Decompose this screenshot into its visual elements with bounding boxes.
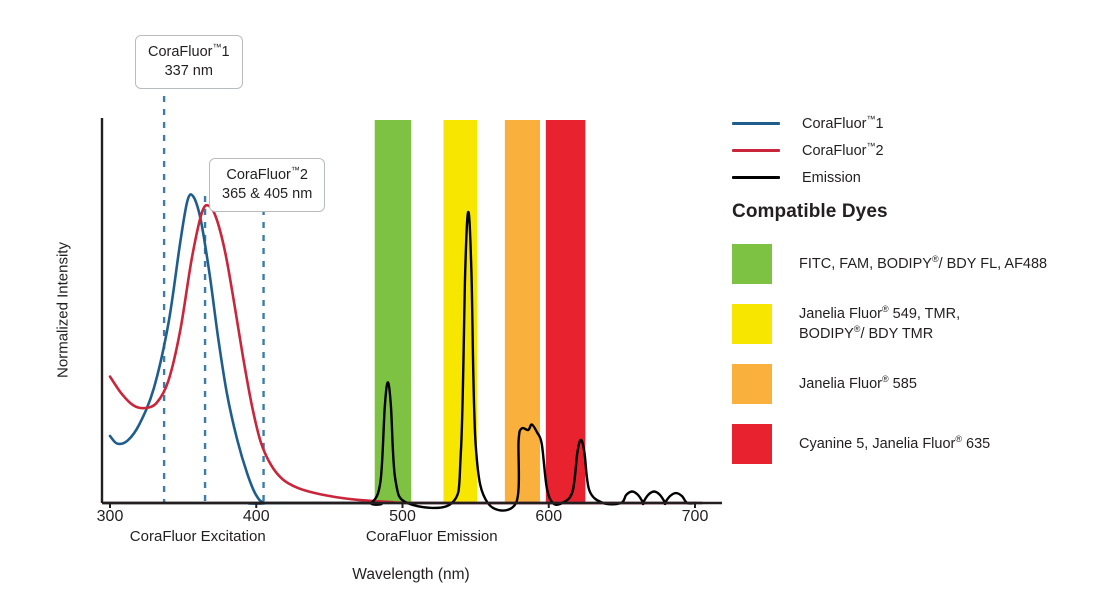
dye-label: FITC, FAM, BODIPY®/ BDY FL, AF488 [799,254,1047,274]
dye-label-line: BODIPY®/ BDY TMR [799,324,960,344]
compatible-dyes-heading: Compatible Dyes [732,201,888,223]
legend-item-2: CoraFluor™2 [732,137,1092,164]
trademark-icon: ™ [291,165,300,175]
registered-icon: ® [932,254,939,264]
callout-1-index: 1 [221,44,229,60]
dye-text-part: Cyanine 5, Janelia Fluor [799,436,955,452]
x-axis-title: Wavelength (nm) [352,566,469,584]
compatible-dyes-list: FITC, FAM, BODIPY®/ BDY FL, AF488Janelia… [732,234,1102,474]
dye-row: Cyanine 5, Janelia Fluor® 635 [732,414,1102,474]
dye-row: Janelia Fluor® 549, TMR,BODIPY®/ BDY TMR [732,294,1102,354]
legend-item-label: CoraFluor™1 [802,116,884,132]
registered-icon: ® [882,374,889,384]
legend-item-label: Emission [802,170,861,186]
dye-row: Janelia Fluor® 585 [732,354,1102,414]
legend: CoraFluor™1CoraFluor™2Emission [732,110,1092,191]
legend-line-swatch [732,149,780,152]
legend-line-swatch [732,176,780,179]
dye-text-part: Janelia Fluor [799,306,882,322]
dye-text-part: Janelia Fluor [799,376,882,392]
y-axis-title: Normalized Intensity [55,242,72,378]
legend-label-text: CoraFluor [802,143,866,159]
legend-item-3: Emission [732,164,1092,191]
dye-color-swatch [732,304,772,344]
dye-text-part: 585 [889,376,917,392]
dye-label: Janelia Fluor® 585 [799,374,917,394]
dye-label-line: Janelia Fluor® 549, TMR, [799,304,960,324]
dye-row: FITC, FAM, BODIPY®/ BDY FL, AF488 [732,234,1102,294]
legend-label-index: 1 [875,116,883,132]
x-tick-label-400: 400 [243,508,270,526]
callout-corafluor2: CoraFluor™2 365 & 405 nm [209,158,325,212]
dye-text-part: FITC, FAM, BODIPY [799,256,932,272]
legend-line-swatch [732,122,780,125]
dye-label: Janelia Fluor® 549, TMR,BODIPY®/ BDY TMR [799,304,960,344]
callout-corafluor1: CoraFluor™1 337 nm [135,35,243,89]
registered-icon: ® [882,304,889,314]
x-tick-label-600: 600 [535,508,562,526]
axis-sublabel-emission: CoraFluor Emission [366,528,498,545]
legend-item-label: CoraFluor™2 [802,143,884,159]
x-tick-label-300: 300 [97,508,124,526]
callout-2-index: 2 [300,167,308,183]
axis-sublabel-excitation: CoraFluor Excitation [130,528,266,545]
dye-text-part: / BDY FL, AF488 [939,256,1048,272]
callout-2-name: CoraFluor [226,167,290,183]
x-tick-label-500: 500 [389,508,416,526]
dye-text-part: BODIPY [799,326,854,342]
dye-label-line: Janelia Fluor® 585 [799,374,917,394]
callout-1-value: 337 nm [148,62,230,81]
dye-label-line: Cyanine 5, Janelia Fluor® 635 [799,434,990,454]
dye-label: Cyanine 5, Janelia Fluor® 635 [799,434,990,454]
callout-1-name: CoraFluor [148,44,212,60]
dye-color-swatch [732,364,772,404]
chart-page: CoraFluor™1 337 nm CoraFluor™2 365 & 405… [0,0,1110,612]
dye-label-line: FITC, FAM, BODIPY®/ BDY FL, AF488 [799,254,1047,274]
dye-text-part: / BDY TMR [860,326,933,342]
callout-1-title: CoraFluor™1 [148,43,230,62]
dye-text-part: 635 [962,436,990,452]
orange-band [505,120,540,503]
legend-label-text: CoraFluor [802,116,866,132]
dye-text-part: 549, TMR, [889,306,960,322]
callout-2-title: CoraFluor™2 [222,166,312,185]
legend-label-text: Emission [802,170,861,186]
legend-label-index: 2 [875,143,883,159]
callout-2-value: 365 & 405 nm [222,185,312,204]
dye-color-swatch [732,244,772,284]
legend-item-1: CoraFluor™1 [732,110,1092,137]
x-tick-label-700: 700 [682,508,709,526]
dye-color-swatch [732,424,772,464]
